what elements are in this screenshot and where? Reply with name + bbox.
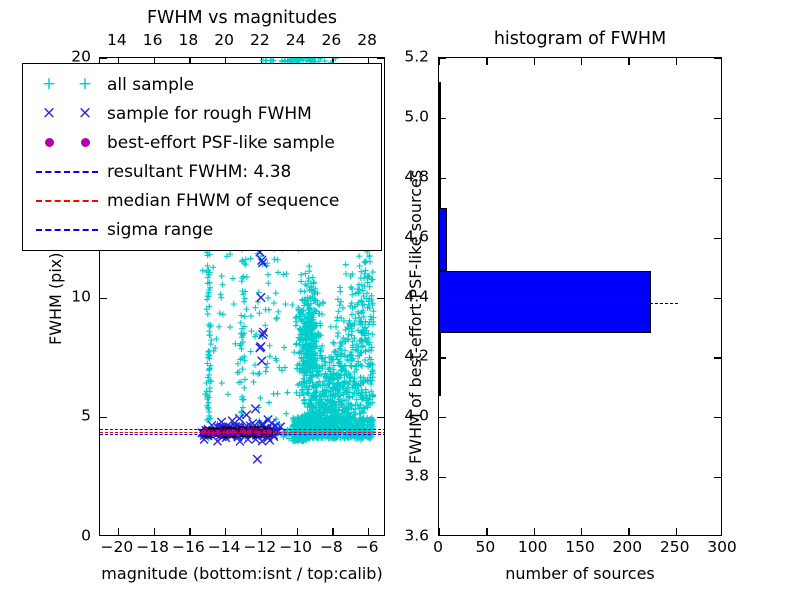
legend[interactable]: ++all sample××sample for rough FWHMbest-…	[22, 63, 382, 251]
legend-item-4[interactable]: median FHWM of sequence	[31, 186, 371, 215]
tick-mark	[486, 58, 487, 65]
tick-mark	[628, 528, 629, 535]
legend-dot-icon	[45, 138, 54, 147]
tick-mark	[714, 58, 721, 59]
legend-dot-icon	[81, 138, 90, 147]
tick-label: −20	[101, 540, 134, 556]
tick-mark	[439, 178, 446, 179]
tick-mark	[439, 417, 446, 418]
tick-mark	[439, 477, 446, 478]
tick-mark	[439, 58, 440, 65]
tick-mark	[714, 118, 721, 119]
legend-label: median FHWM of sequence	[103, 191, 339, 211]
legend-item-3[interactable]: resultant FWHM: 4.38	[31, 157, 371, 186]
left-xaxis-label: magnitude (bottom:isnt / top:calib)	[99, 566, 385, 582]
tick-label: −18	[136, 540, 169, 556]
tick-label: 26	[322, 33, 342, 49]
tick-mark	[439, 118, 446, 119]
tick-mark	[714, 178, 721, 179]
tick-label: 200	[613, 540, 643, 556]
tick-label: 18	[179, 33, 199, 49]
histogram-bar	[439, 82, 441, 145]
tick-label: −16	[172, 540, 205, 556]
tick-mark	[714, 238, 721, 239]
tick-label: 5.0	[404, 109, 429, 125]
histogram-bar	[439, 271, 651, 334]
tick-mark	[439, 528, 440, 535]
tick-mark	[714, 357, 721, 358]
tick-label: 0	[81, 528, 91, 544]
legend-item-0[interactable]: ++all sample	[31, 70, 371, 99]
tick-label: 5.2	[404, 49, 429, 65]
tick-label: −6	[356, 540, 379, 556]
histogram-bar	[439, 333, 441, 396]
tick-label: 50	[475, 540, 495, 556]
tick-label: 100	[518, 540, 548, 556]
histogram-tick-marks	[439, 58, 721, 535]
tick-label: 14	[107, 33, 127, 49]
psf-sample-points	[201, 426, 273, 438]
left-yaxis-label: FWHM (pix)	[48, 253, 64, 346]
tick-mark	[714, 417, 721, 418]
tick-label: 28	[357, 33, 377, 49]
tick-mark	[439, 357, 446, 358]
tick-mark	[714, 477, 721, 478]
tick-mark	[628, 58, 629, 65]
legend-marker-cross-icon: ××	[31, 105, 103, 122]
legend-label: sigma range	[103, 220, 213, 240]
tick-label: 250	[660, 540, 690, 556]
tick-label: 22	[250, 33, 270, 49]
legend-marker-plus-icon: ++	[31, 76, 103, 93]
legend-plus-icon: +	[42, 76, 56, 93]
legend-item-5[interactable]: sigma range	[31, 215, 371, 244]
tick-label: 10	[71, 289, 91, 305]
legend-label: all sample	[103, 75, 194, 95]
tick-label: 24	[286, 33, 306, 49]
legend-marker-dashdot-icon	[31, 229, 103, 231]
legend-marker-dashed-icon	[31, 200, 103, 202]
legend-marker-circle-icon	[31, 138, 103, 147]
tick-mark	[534, 58, 535, 65]
tick-label: 5	[81, 409, 91, 425]
tick-mark	[676, 58, 677, 65]
right-plot-title: histogram of FWHM	[438, 31, 722, 49]
tick-mark	[534, 528, 535, 535]
histogram-axes[interactable]	[438, 57, 722, 536]
tick-mark	[486, 528, 487, 535]
histogram-bar	[439, 208, 447, 271]
legend-marker-dashed-icon	[31, 171, 103, 173]
tick-label: 300	[707, 540, 737, 556]
tick-mark	[581, 528, 582, 535]
legend-cross-icon: ×	[42, 105, 56, 122]
tick-label: −14	[208, 540, 241, 556]
tick-mark	[439, 238, 446, 239]
left-plot-title: FWHM vs magnitudes	[99, 10, 385, 28]
tick-mark	[676, 528, 677, 535]
histogram-bar	[439, 145, 441, 208]
tick-label: 3.6	[404, 528, 429, 544]
histogram-reference-line	[439, 58, 721, 535]
tick-mark	[439, 298, 446, 299]
legend-plus-icon: +	[78, 76, 92, 93]
legend-line-swatch	[36, 171, 98, 173]
tick-label: −12	[244, 540, 277, 556]
figure-canvas: FWHM vs magnitudes 1416182022242628 −20−…	[0, 0, 800, 600]
tick-label: 20	[214, 33, 234, 49]
legend-item-1[interactable]: ××sample for rough FWHM	[31, 99, 371, 128]
legend-label: resultant FWHM: 4.38	[103, 162, 291, 182]
right-xaxis-label: number of sources	[438, 566, 722, 582]
legend-cross-icon: ×	[78, 105, 92, 122]
tick-label: −8	[320, 540, 343, 556]
tick-mark	[439, 58, 446, 59]
histogram-bars	[439, 58, 721, 535]
tick-label: 3.8	[404, 468, 429, 484]
legend-line-swatch	[36, 200, 98, 202]
legend-label: sample for rough FWHM	[103, 104, 312, 124]
legend-line-swatch	[36, 229, 98, 231]
tick-label: 150	[565, 540, 595, 556]
tick-mark	[581, 58, 582, 65]
tick-mark	[714, 298, 721, 299]
histogram-fwhm-line	[439, 303, 678, 304]
legend-item-2[interactable]: best-effort PSF-like sample	[31, 128, 371, 157]
tick-label: −10	[279, 540, 312, 556]
legend-label: best-effort PSF-like sample	[103, 133, 335, 153]
right-yaxis-label: FWHM of best-effort PSF-like sources	[408, 170, 424, 464]
tick-label: 0	[433, 540, 443, 556]
tick-label: 16	[143, 33, 163, 49]
